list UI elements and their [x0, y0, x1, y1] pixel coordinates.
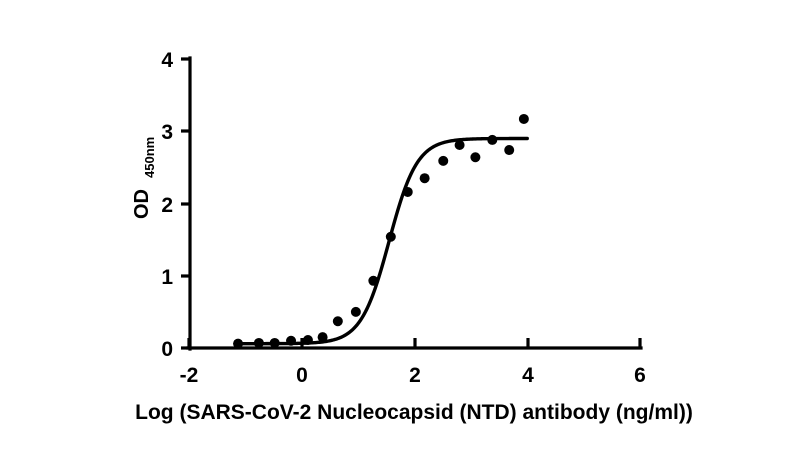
data-point	[487, 135, 497, 145]
y-tick-label-4: 4	[161, 49, 173, 72]
x-tick-label-4: 4	[522, 364, 534, 387]
y-axis-title-main: OD	[131, 189, 153, 219]
y-tick-label-2: 2	[161, 194, 173, 217]
data-point	[254, 338, 264, 348]
data-point	[455, 140, 465, 150]
elisa-titration-chart: 4 3 2 1 0 -2 0 2 4 6 OD 450nm Log (SARS-…	[0, 0, 797, 473]
data-point	[318, 332, 328, 342]
data-point	[420, 173, 430, 183]
x-axis-title: Log (SARS-CoV-2 Nucleocapsid (NTD) antib…	[135, 401, 693, 424]
data-point	[286, 336, 296, 346]
data-point	[386, 232, 396, 242]
data-point	[504, 145, 514, 155]
data-point	[351, 307, 361, 317]
data-point	[233, 339, 243, 349]
x-tick-label-0: 0	[296, 364, 308, 387]
data-point	[368, 276, 378, 286]
data-point	[470, 152, 480, 162]
data-point	[438, 156, 448, 166]
data-point	[403, 187, 413, 197]
x-tick-label-2: 2	[409, 364, 421, 387]
data-point	[333, 316, 343, 326]
y-tick-label-0: 0	[161, 338, 173, 361]
y-axis-title-subscript: 450nm	[142, 137, 157, 178]
y-tick-label-3: 3	[161, 121, 173, 144]
data-point	[519, 114, 529, 124]
x-tick-label--2: -2	[180, 364, 199, 387]
x-tick-label-6: 6	[634, 364, 646, 387]
data-point	[270, 338, 280, 348]
data-point	[303, 335, 313, 345]
y-tick-label-1: 1	[161, 266, 173, 289]
